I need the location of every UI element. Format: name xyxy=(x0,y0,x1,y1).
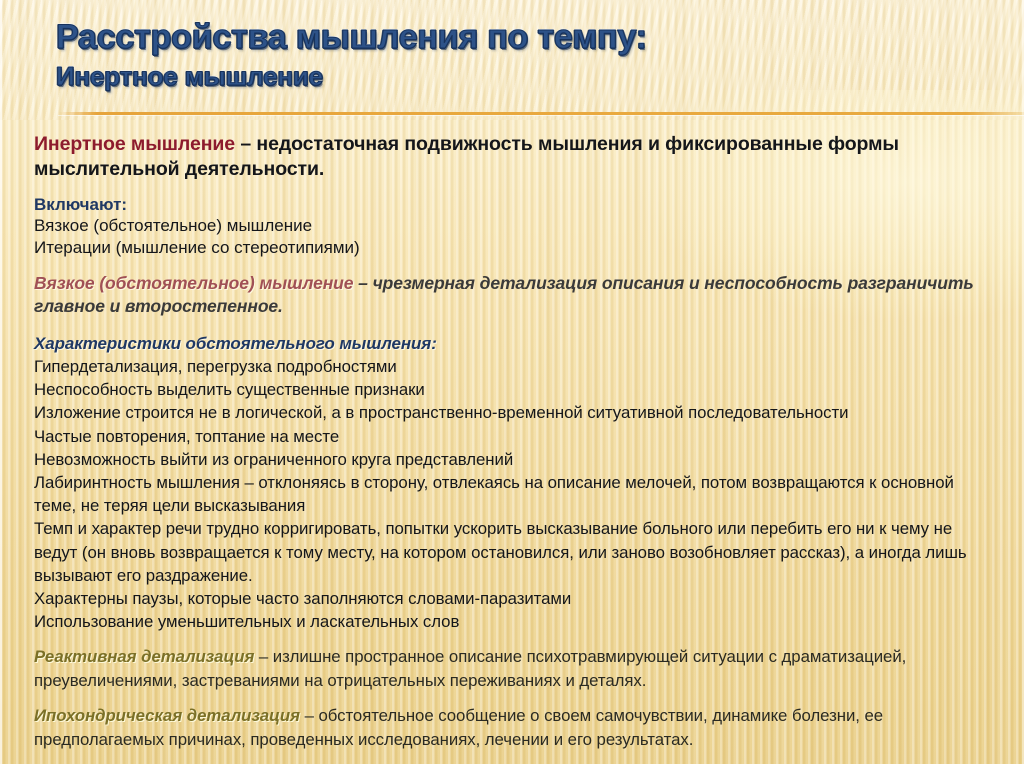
includes-item: Вязкое (обстоятельное) мышление xyxy=(34,215,994,237)
slide-title-line2: Инертное мышление xyxy=(56,60,323,92)
characteristic-item: Характерны паузы, которые часто заполняю… xyxy=(34,587,994,610)
lead-term: Инертное мышление xyxy=(34,133,235,155)
characteristics-heading: Характеристики обстоятельного мышления: xyxy=(34,332,994,355)
header-divider-rule xyxy=(58,112,1024,115)
viscous-paragraph: Вязкое (обстоятельное) мышление – чрезме… xyxy=(34,272,994,318)
characteristic-item: Неспособность выделить существенные приз… xyxy=(34,378,994,401)
characteristic-item: Невозможность выйти из ограниченного кру… xyxy=(34,448,994,471)
characteristic-item: Частые повторения, топтание на месте xyxy=(34,425,994,448)
lead-paragraph: Инертное мышление – недостаточная подвиж… xyxy=(34,132,994,182)
spacer xyxy=(34,318,994,332)
characteristic-item: Изложение строится не в логической, а в … xyxy=(34,401,994,424)
slide-body: Инертное мышление – недостаточная подвиж… xyxy=(34,132,994,751)
slide-header: Расстройства мышления по темпу: Инертное… xyxy=(0,0,1024,118)
characteristic-item: Гипердетализация, перегрузка подробностя… xyxy=(34,355,994,378)
hypochondriac-detailing-term: Ипохондрическая детализация xyxy=(34,706,300,725)
viscous-term: Вязкое (обстоятельное) мышление xyxy=(34,273,353,293)
spacer xyxy=(34,182,994,194)
reactive-detailing-paragraph: Реактивная детализация – излишне простра… xyxy=(34,645,994,692)
includes-heading: Включают: xyxy=(34,194,994,215)
slide-left-edge xyxy=(0,0,2,767)
characteristic-item: Лабиринтность мышления – отклоняясь в ст… xyxy=(34,471,994,517)
slide: Расстройства мышления по темпу: Инертное… xyxy=(0,0,1024,767)
characteristic-item: Темп и характер речи трудно корригироват… xyxy=(34,517,994,587)
includes-item: Итерации (мышление со стереотипиями) xyxy=(34,237,994,259)
slide-title-line1: Расстройства мышления по темпу: xyxy=(56,17,647,57)
spacer xyxy=(34,633,994,645)
spacer xyxy=(34,259,994,272)
characteristic-item: Использование уменьшительных и ласкатель… xyxy=(34,610,994,633)
hypochondriac-detailing-paragraph: Ипохондрическая детализация – обстоятель… xyxy=(34,704,994,751)
reactive-detailing-term: Реактивная детализация xyxy=(34,647,254,666)
spacer xyxy=(34,692,994,704)
